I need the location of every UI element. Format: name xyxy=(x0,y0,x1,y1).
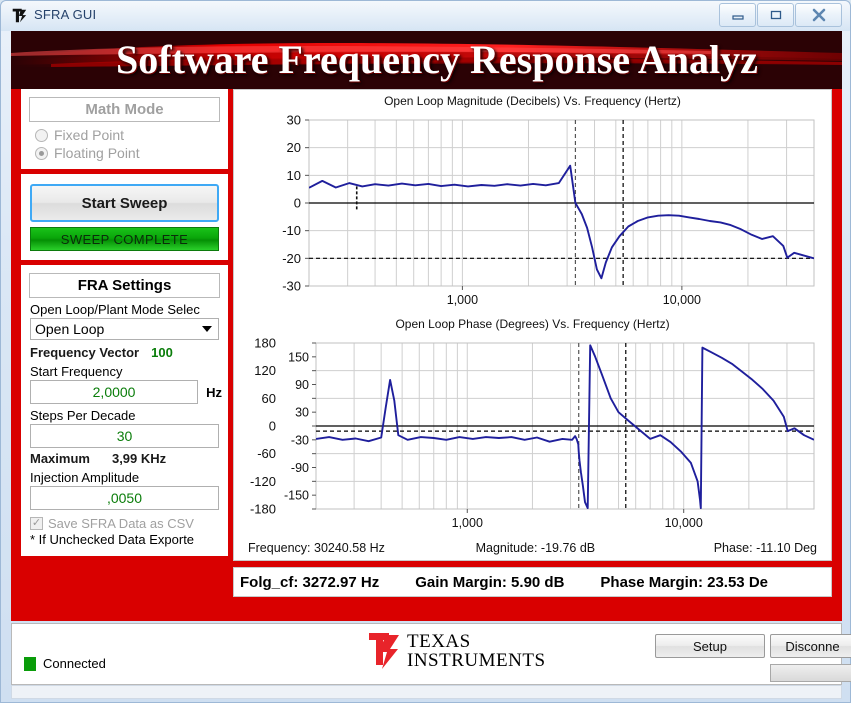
checkbox-checked-icon: ✓ xyxy=(30,517,43,530)
cursor-readout: Frequency: 30240.58 Hz Magnitude: -19.76… xyxy=(234,536,831,560)
close-button[interactable] xyxy=(795,3,842,27)
svg-text:150: 150 xyxy=(288,350,309,364)
radio-floating-point-label: Floating Point xyxy=(54,145,140,161)
ti-wordmark-line2: INSTRUMENTS xyxy=(407,651,546,670)
svg-text:30: 30 xyxy=(287,113,301,128)
svg-text:60: 60 xyxy=(262,391,276,406)
plots-panel: Open Loop Magnitude (Decibels) Vs. Frequ… xyxy=(233,89,832,561)
minimize-icon xyxy=(731,10,745,20)
start-sweep-button[interactable]: Start Sweep xyxy=(30,184,219,222)
radio-floating-point[interactable]: Floating Point xyxy=(27,144,222,162)
radio-fixed-point[interactable]: Fixed Point xyxy=(27,126,222,144)
status-bar: Connected TEXAS INSTRUMENTS Setup Discon… xyxy=(11,623,842,685)
steps-per-decade-input[interactable]: 30 xyxy=(30,424,219,448)
svg-text:30: 30 xyxy=(295,406,309,420)
phase-plot-title: Open Loop Phase (Degrees) Vs. Frequency … xyxy=(234,313,831,331)
injection-amplitude-label: Injection Amplitude xyxy=(30,470,222,485)
maximum-row: Maximum 3,99 KHz xyxy=(30,451,222,466)
radio-fixed-point-icon xyxy=(35,129,48,142)
margins-bar: Folg_cf: 3272.97 Hz Gain Margin: 5.90 dB… xyxy=(233,567,832,597)
frequency-vector-row: Frequency Vector 100 xyxy=(30,343,222,360)
phase-plot[interactable]: 1,00010,0001509030-30-90-150180120600-60… xyxy=(234,331,831,536)
math-mode-panel: Math Mode Fixed Point Floating Point xyxy=(21,89,228,169)
connection-status: Connected xyxy=(24,656,106,671)
mode-select-label: Open Loop/Plant Mode Selec xyxy=(30,302,222,317)
save-csv-label: Save SFRA Data as CSV xyxy=(48,516,194,531)
start-frequency-input[interactable]: 2,0000 xyxy=(30,380,198,404)
svg-text:-120: -120 xyxy=(250,474,276,489)
footer-strip xyxy=(11,685,842,699)
maximize-button[interactable] xyxy=(757,3,794,27)
fra-settings-title: FRA Settings xyxy=(29,273,220,298)
maximum-label: Maximum xyxy=(30,451,90,466)
fra-settings-panel: FRA Settings Open Loop/Plant Mode Selec … xyxy=(21,265,228,556)
progress-bar xyxy=(770,664,851,682)
mode-select-value: Open Loop xyxy=(35,321,104,337)
ti-wordmark-line1: TEXAS xyxy=(407,632,546,651)
sweep-panel: Start Sweep SWEEP COMPLETE xyxy=(21,174,228,260)
svg-text:120: 120 xyxy=(254,363,276,378)
svg-text:-150: -150 xyxy=(284,489,309,503)
disconnect-button[interactable]: Disconne xyxy=(770,634,851,658)
save-csv-checkbox[interactable]: ✓ Save SFRA Data as CSV xyxy=(30,516,222,531)
connection-label: Connected xyxy=(43,656,106,671)
ti-logo-icon xyxy=(10,7,28,25)
svg-text:10,000: 10,000 xyxy=(663,293,701,307)
connection-led-icon xyxy=(24,657,36,671)
radio-fixed-point-label: Fixed Point xyxy=(54,127,124,143)
close-icon xyxy=(811,8,827,22)
svg-text:10: 10 xyxy=(287,168,301,183)
chevron-down-icon xyxy=(202,326,212,332)
svg-text:-180: -180 xyxy=(250,502,276,517)
svg-text:0: 0 xyxy=(294,196,301,211)
minimize-button[interactable] xyxy=(719,3,756,27)
svg-text:-30: -30 xyxy=(291,433,309,447)
math-mode-title: Math Mode xyxy=(29,97,220,122)
start-frequency-unit: Hz xyxy=(206,385,222,400)
injection-amplitude-input[interactable]: ,0050 xyxy=(30,486,219,510)
readout-frequency: Frequency: 30240.58 Hz xyxy=(248,541,476,555)
readout-magnitude: Magnitude: -19.76 dB xyxy=(476,541,664,555)
magnitude-plot-title: Open Loop Magnitude (Decibels) Vs. Frequ… xyxy=(234,90,831,108)
svg-text:0: 0 xyxy=(269,419,276,434)
steps-per-decade-label: Steps Per Decade xyxy=(30,408,222,423)
maximize-icon xyxy=(769,9,783,21)
left-control-column: Math Mode Fixed Point Floating Point Sta… xyxy=(21,89,228,561)
mode-select-dropdown[interactable]: Open Loop xyxy=(30,318,219,340)
svg-text:-10: -10 xyxy=(282,223,301,238)
readout-phase: Phase: -11.10 Deg xyxy=(663,541,817,555)
start-frequency-label: Start Frequency xyxy=(30,364,222,379)
svg-text:1,000: 1,000 xyxy=(447,293,478,307)
ti-wordmark: TEXAS INSTRUMENTS xyxy=(407,632,546,670)
svg-text:90: 90 xyxy=(295,378,309,392)
svg-text:1,000: 1,000 xyxy=(452,516,483,530)
svg-text:180: 180 xyxy=(254,336,276,351)
svg-text:10,000: 10,000 xyxy=(665,516,703,530)
window-controls xyxy=(718,3,842,27)
svg-text:-20: -20 xyxy=(282,251,301,266)
ti-brand-logo: TEXAS INSTRUMENTS xyxy=(367,631,546,671)
svg-text:-30: -30 xyxy=(282,279,301,294)
app-window: SFRA GUI xyxy=(0,0,851,703)
frequency-vector-label: Frequency Vector xyxy=(30,345,139,360)
title-bar: SFRA GUI xyxy=(1,1,850,31)
svg-text:-90: -90 xyxy=(291,461,309,475)
window-title: SFRA GUI xyxy=(34,7,96,22)
magnitude-plot[interactable]: 1,00010,0003020100-10-20-30 xyxy=(234,108,831,313)
svg-text:20: 20 xyxy=(287,140,301,155)
sweep-status-badge: SWEEP COMPLETE xyxy=(30,227,219,251)
gain-margin-value: Gain Margin: 5.90 dB xyxy=(409,574,594,591)
banner: Software Frequency Response Analyz xyxy=(11,31,842,89)
app-body: Software Frequency Response Analyz Math … xyxy=(11,31,842,621)
svg-text:-60: -60 xyxy=(257,446,276,461)
radio-floating-point-icon xyxy=(35,147,48,160)
frequency-vector-value: 100 xyxy=(151,345,173,360)
save-csv-note: * If Unchecked Data Exporte xyxy=(30,532,222,547)
maximum-value: 3,99 KHz xyxy=(112,451,166,466)
setup-button[interactable]: Setup xyxy=(655,634,765,658)
banner-title: Software Frequency Response Analyz xyxy=(116,36,758,83)
phase-margin-value: Phase Margin: 23.53 De xyxy=(594,574,798,591)
folg-cf-value: Folg_cf: 3272.97 Hz xyxy=(234,574,409,591)
ti-mark-icon xyxy=(367,631,401,671)
